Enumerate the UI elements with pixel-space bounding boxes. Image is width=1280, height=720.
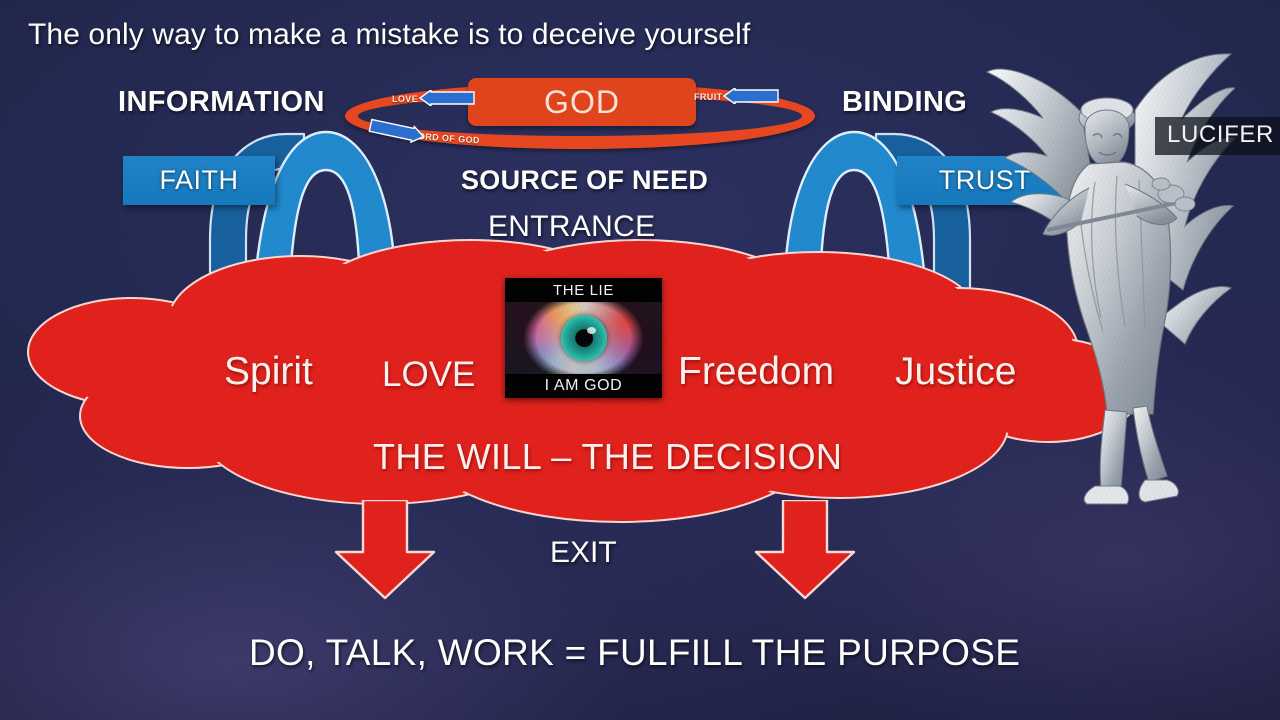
cloud-caption-will-decision: THE WILL – THE DECISION — [373, 439, 842, 475]
exit-arrow-right — [750, 500, 860, 600]
colorful-eye-image — [505, 300, 662, 376]
god-label: GOD — [468, 78, 696, 126]
page-title: The only way to make a mistake is to dec… — [28, 20, 750, 50]
slide-canvas: The only way to make a mistake is to dec… — [0, 0, 1280, 720]
eye-card-top-label: THE LIE — [505, 278, 662, 302]
label-source-of-need: SOURCE OF NEED — [461, 167, 708, 194]
statue-caption-lucifer: LUCIFER — [1155, 117, 1280, 155]
the-lie-image-card: THE LIE I AM GOD — [505, 278, 662, 398]
conclusion-text: DO, TALK, WORK = FULFILL THE PURPOSE — [249, 634, 1020, 671]
faith-label: FAITH — [159, 165, 238, 196]
label-entrance: ENTRANCE — [488, 212, 655, 242]
header-binding: BINDING — [842, 88, 967, 117]
label-box-faith: FAITH — [123, 156, 275, 205]
header-information: INFORMATION — [118, 88, 325, 117]
cloud-word-freedom: Freedom — [678, 352, 834, 391]
cloud-word-spirit: Spirit — [224, 352, 313, 391]
eye-card-bottom-label: I AM GOD — [505, 374, 662, 398]
ring-label-fruit: FRUIT — [694, 92, 723, 102]
cloud-word-love: LOVE — [382, 357, 475, 392]
ring-label-love: LOVE — [392, 94, 418, 104]
exit-arrow-left — [330, 500, 440, 600]
arrow-left-icon — [722, 88, 780, 104]
label-exit: EXIT — [550, 538, 617, 568]
god-box: GOD — [468, 78, 696, 126]
arrow-left-icon — [418, 90, 476, 106]
